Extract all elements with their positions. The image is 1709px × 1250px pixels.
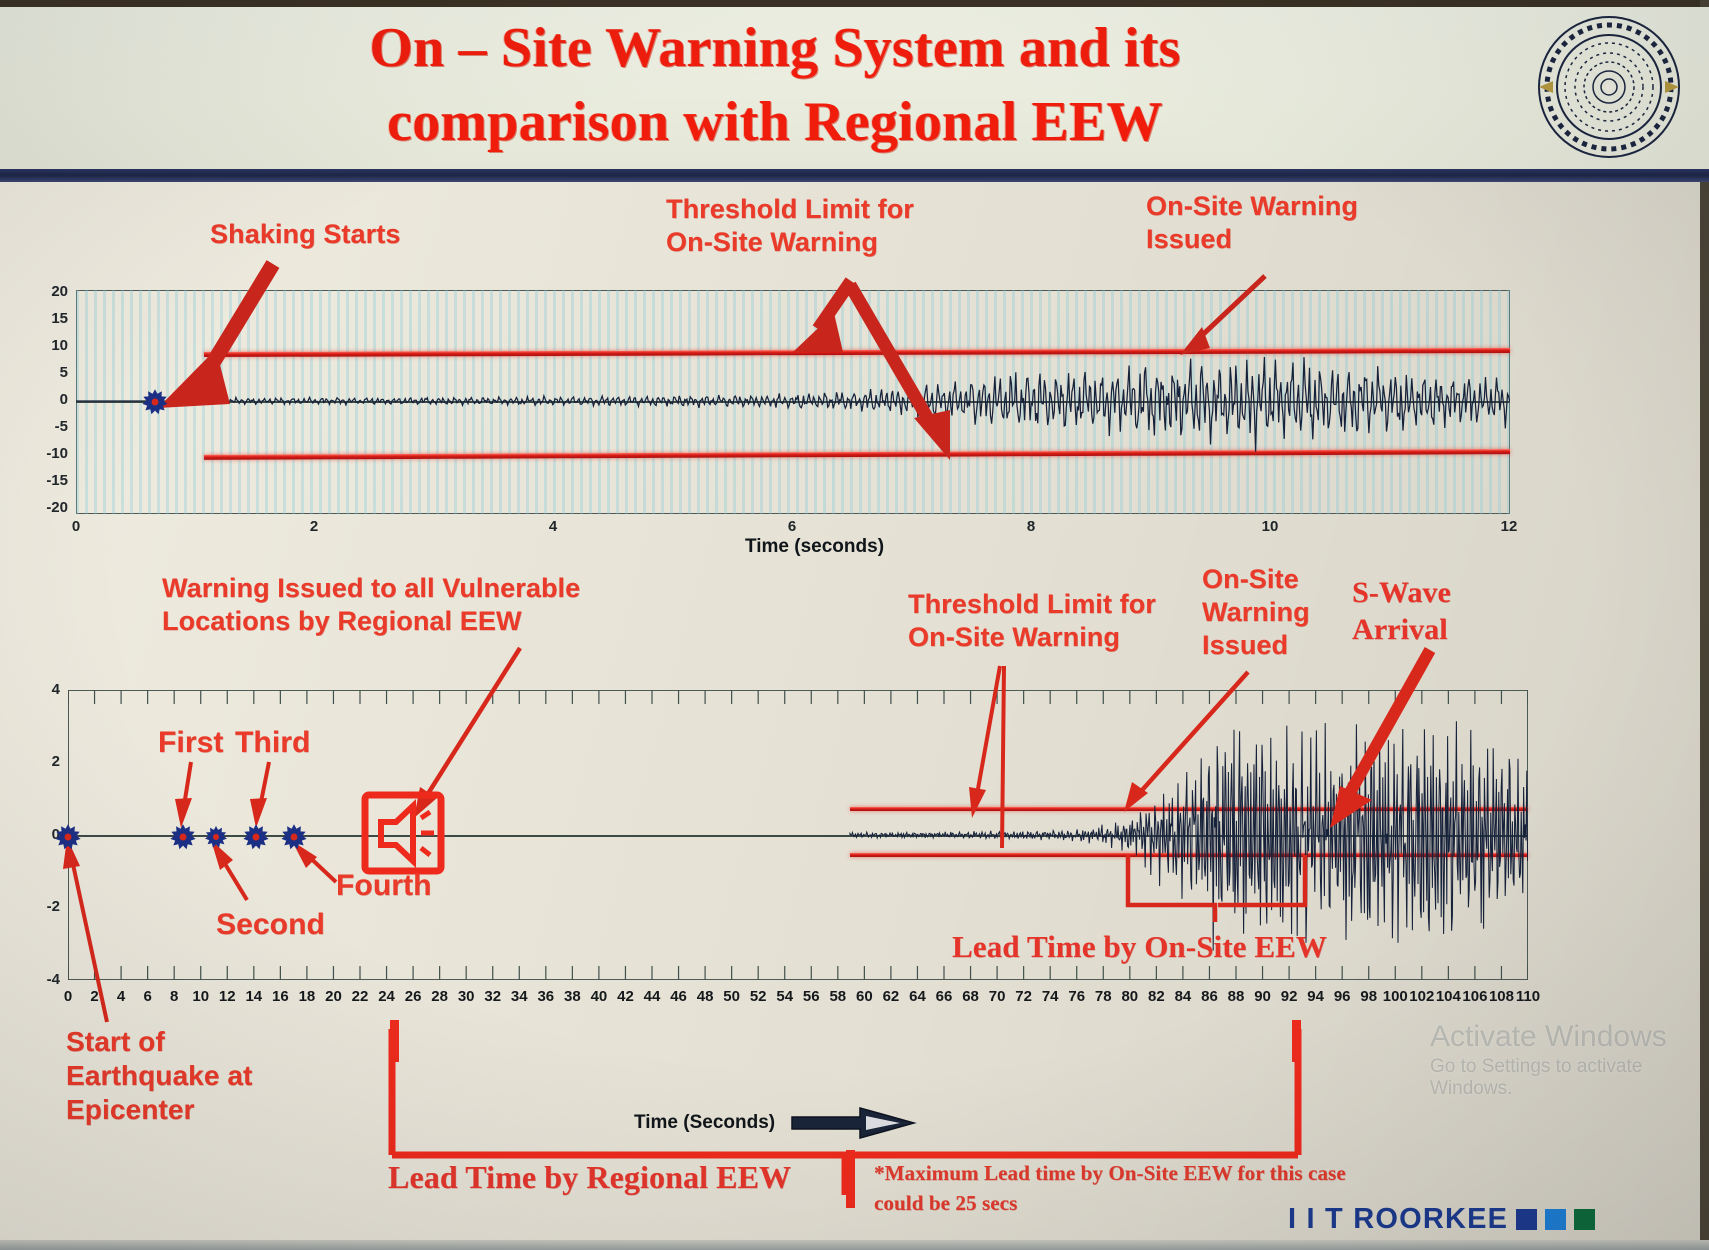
annotation-second: Second (216, 907, 325, 944)
annotation-third: Third (235, 725, 311, 762)
iit-roorkee-seal-icon (1535, 13, 1683, 161)
page-title-line2: comparison with Regional EEW (150, 85, 1400, 159)
chart-top-accelerogram (76, 290, 1510, 514)
title-banner: On – Site Warning System and its compari… (0, 7, 1709, 169)
windows-activation-watermark: Activate Windows Go to Settings to activ… (1430, 1020, 1709, 1100)
star-shaking-start (140, 387, 170, 417)
annotation-regional-warning-issued: Warning Issued to all Vulnerable Locatio… (162, 572, 722, 638)
annotation-lead-time-on-site: Lead Time by On-Site EEW (952, 928, 1327, 966)
annotation-first: First (158, 725, 224, 762)
star-third (241, 822, 271, 852)
annotation-on-site-warning-issued-top: On-Site Warning Issued (1146, 190, 1358, 256)
star-first (168, 822, 198, 852)
photo-bottom-edge (0, 1240, 1709, 1250)
brand-square-1 (1516, 1209, 1537, 1230)
annotation-fourth: Fourth (336, 868, 432, 905)
chart-top-waveform (76, 290, 1510, 514)
chart-bottom-x-tick-110: 110 (1510, 988, 1546, 1005)
annotation-threshold-limit-bottom: Threshold Limit for On-Site Warning (908, 588, 1156, 654)
page-title: On – Site Warning System and its compari… (150, 11, 1400, 160)
brand-square-3 (1574, 1209, 1595, 1230)
chart-top-x-axis-title: Time (seconds) (745, 536, 884, 558)
footer-brand-text: I I T ROORKEE (1288, 1203, 1508, 1236)
annotation-lead-time-regional: Lead Time by Regional EEW (388, 1158, 791, 1197)
time-direction-arrow-icon (790, 1104, 920, 1142)
star-second (203, 824, 229, 850)
annotation-s-wave-arrival: S-Wave Arrival (1352, 575, 1451, 648)
chart-bottom-x-axis-title: Time (Seconds) (634, 1112, 775, 1134)
brand-square-2 (1545, 1209, 1566, 1230)
annotation-threshold-limit-top: Threshold Limit for On-Site Warning (666, 193, 914, 259)
footer-brand: I I T ROORKEE (1288, 1203, 1595, 1236)
annotation-start-of-earthquake: Start of Earthquake at Epicenter (66, 1025, 252, 1127)
star-start-of-earthquake (53, 822, 83, 852)
annotation-shaking-starts: Shaking Starts (210, 218, 400, 251)
banner-divider (0, 169, 1709, 182)
star-fourth (279, 822, 309, 852)
page-title-line1: On – Site Warning System and its (150, 11, 1400, 85)
annotation-on-site-warning-issued-bottom: On-Site Warning Issued (1202, 563, 1310, 662)
